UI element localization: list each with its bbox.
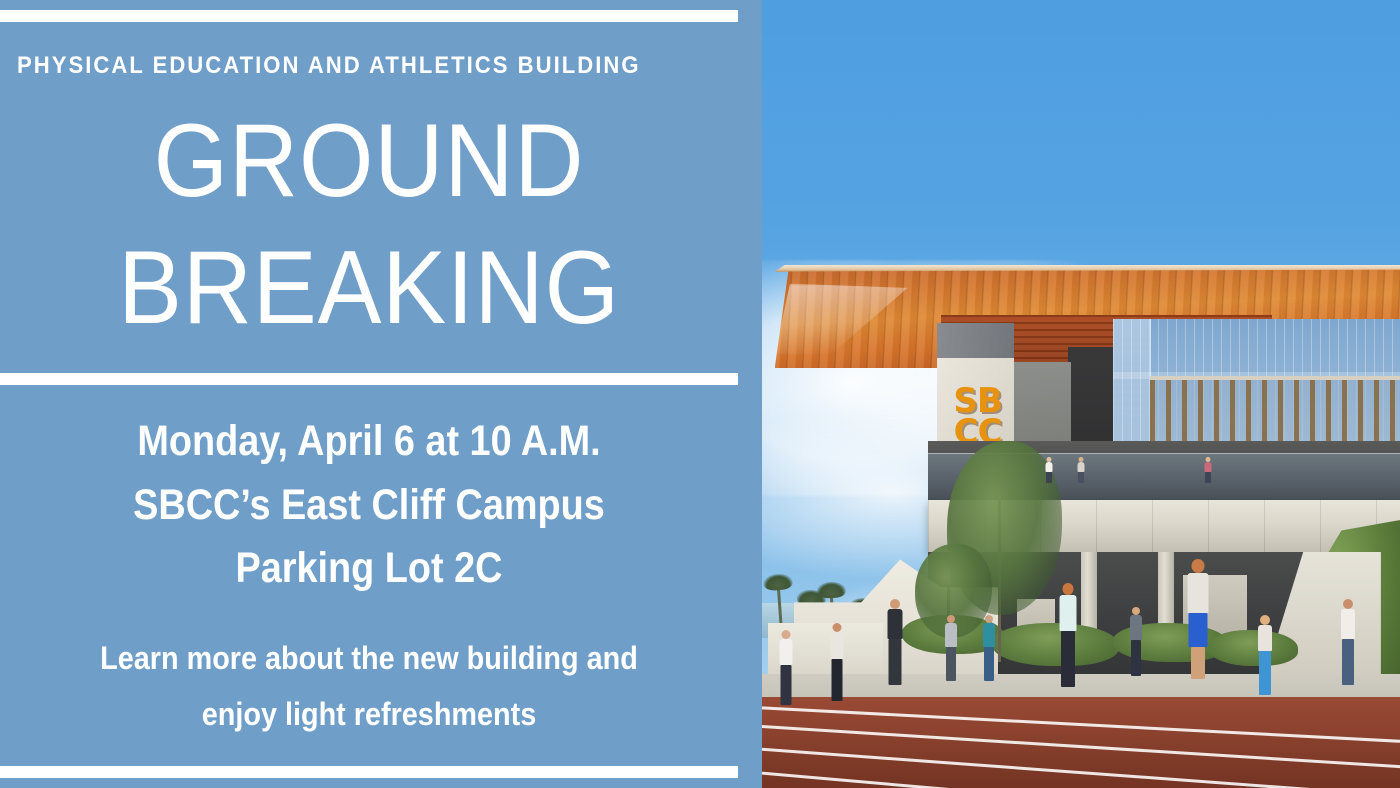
person-figure [941,615,961,685]
person-torso [1045,462,1052,472]
person-head [890,599,900,609]
divider-rule-middle [0,373,738,385]
person-legs [1189,613,1208,647]
person-legs [1078,472,1084,483]
person-head [1192,559,1205,573]
sbcc-logo: SB CC [949,386,1006,449]
person-figure-on-balcony [1202,457,1214,483]
track-lane-line [762,721,1400,776]
person-figure [979,615,999,685]
subnote-line-2: enjoy light refreshments [37,686,701,742]
person-lower-legs [1191,647,1205,679]
person-torso [830,632,843,659]
person-legs [1259,651,1271,695]
person-torso [1205,462,1212,472]
person-figure-on-balcony [1043,457,1055,483]
person-head [1343,599,1353,609]
person-figure [1126,607,1146,679]
project-name-eyebrow: PHYSICAL EDUCATION AND ATHLETICS BUILDIN… [17,52,641,80]
page-title: GROUND BREAKING [30,98,709,352]
person-head [1063,583,1074,595]
running-track [762,697,1400,788]
person-figure [1183,559,1213,683]
person-figure [826,623,848,707]
person-head [832,623,841,632]
track-lane-line [762,703,1400,749]
person-head [985,615,993,623]
person-head [1260,615,1270,625]
person-figure [1336,599,1360,691]
person-figure-on-balcony [1075,457,1087,483]
person-head [1132,607,1140,615]
person-torso [779,639,792,665]
left-text-panel: PHYSICAL EDUCATION AND ATHLETICS BUILDIN… [0,0,762,788]
person-figure [883,599,907,691]
person-legs [831,659,842,701]
louver-top-rail [1150,376,1400,380]
groundbreaking-announcement-poster: SB CC [0,0,1400,788]
event-subnote: Learn more about the new building and en… [37,630,701,742]
track-lane-line [762,766,1400,788]
person-head [947,615,955,623]
person-legs [1131,640,1141,676]
person-figure [1055,583,1081,691]
person-legs [1205,472,1211,483]
person-legs [1342,639,1354,685]
person-legs [1061,631,1075,687]
event-location-lot: Parking Lot 2C [44,537,693,601]
headline-line-1: GROUND [154,103,585,219]
event-date-time: Monday, April 6 at 10 A.M. [44,410,693,474]
person-figure [1253,615,1277,701]
person-torso [888,609,903,639]
divider-rule-top [0,10,738,22]
person-torso [1077,462,1084,472]
person-torso [983,623,995,647]
person-legs [946,647,956,681]
person-torso [945,623,957,647]
person-torso [1130,615,1142,640]
person-torso [1188,573,1209,613]
person-torso [1341,609,1355,639]
person-torso [1258,625,1272,651]
person-head [781,630,790,639]
event-location-campus: SBCC’s East Cliff Campus [44,474,693,538]
headline-line-2: BREAKING [30,225,709,352]
person-legs [984,647,994,681]
person-torso [1060,595,1077,631]
event-details: Monday, April 6 at 10 A.M. SBCC’s East C… [44,410,693,601]
person-legs [889,639,902,685]
subnote-line-1: Learn more about the new building and [37,630,701,686]
person-legs [780,665,791,705]
person-figure [775,630,797,710]
building-rendering-photo: SB CC [762,0,1400,788]
divider-rule-bottom [0,766,738,778]
person-legs [1046,472,1052,483]
